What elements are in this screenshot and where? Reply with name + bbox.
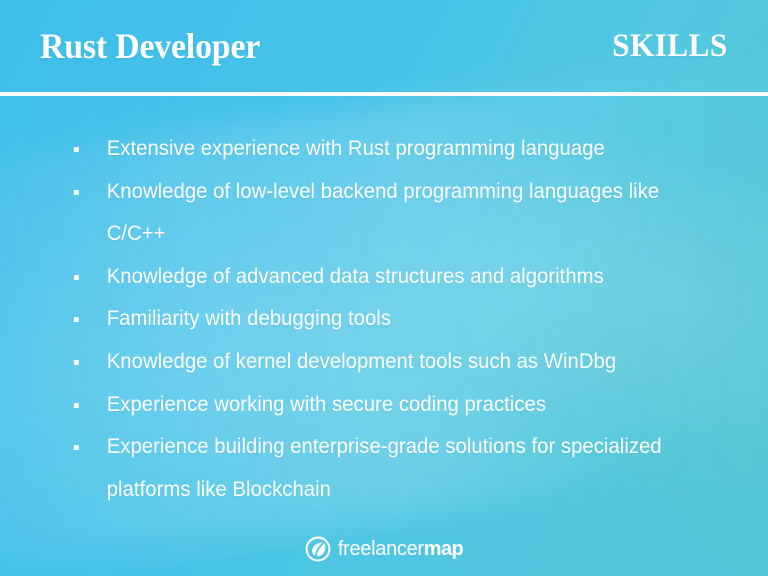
brand-word-bold: map [424, 538, 463, 560]
brand-wordmark: freelancermap [338, 539, 463, 559]
bullet-square-icon [74, 360, 79, 365]
bullet-square-icon [74, 317, 79, 322]
header-divider [0, 92, 768, 96]
section-label: SKILLS [612, 30, 728, 63]
slide-header: Rust Developer SKILLS [0, 0, 768, 92]
list-item-label: Knowledge of advanced data structures an… [107, 256, 705, 299]
brand-word-light: freelancer [338, 538, 424, 560]
skills-list: Extensive experience with Rust programmi… [72, 128, 728, 511]
list-item: Knowledge of low-level backend programmi… [72, 171, 705, 256]
bullet-square-icon [74, 147, 79, 152]
list-item-label: Knowledge of kernel development tools su… [107, 341, 705, 384]
list-item-label: Extensive experience with Rust programmi… [107, 128, 705, 171]
bullet-square-icon [74, 445, 79, 450]
list-item: Experience building enterprise-grade sol… [72, 426, 705, 511]
list-item-label: Experience building enterprise-grade sol… [107, 426, 705, 511]
bullet-square-icon [74, 403, 79, 408]
list-item-label: Experience working with secure coding pr… [107, 384, 705, 427]
list-item-label: Familiarity with debugging tools [107, 298, 705, 341]
list-item: Familiarity with debugging tools [72, 298, 705, 341]
list-item: Experience working with secure coding pr… [72, 384, 705, 427]
list-item: Knowledge of kernel development tools su… [72, 341, 705, 384]
freelancermap-swirl-icon [305, 536, 331, 562]
slide-canvas: Rust Developer SKILLS Extensive experien… [0, 0, 768, 576]
footer-brand: freelancermap [0, 536, 768, 562]
page-title: Rust Developer [40, 28, 260, 64]
bullet-square-icon [74, 275, 79, 280]
list-item: Knowledge of advanced data structures an… [72, 256, 705, 299]
bullet-square-icon [74, 190, 79, 195]
list-item-label: Knowledge of low-level backend programmi… [107, 171, 705, 256]
list-item: Extensive experience with Rust programmi… [72, 128, 705, 171]
